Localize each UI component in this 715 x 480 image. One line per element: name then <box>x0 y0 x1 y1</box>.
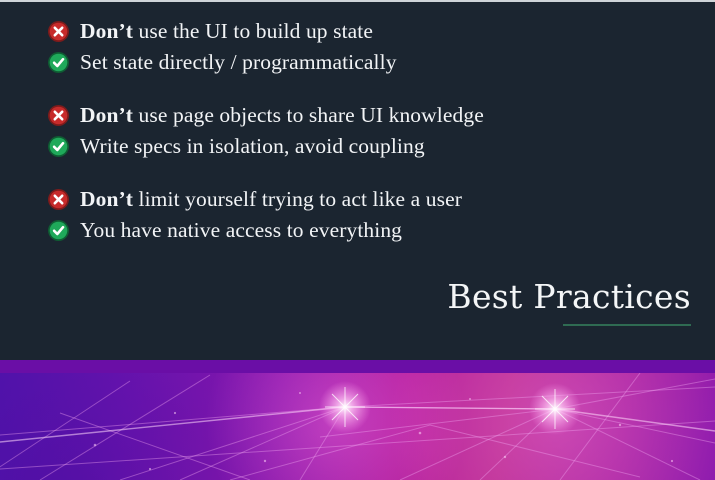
do-row-text: You have native access to everything <box>80 219 402 243</box>
dont-lead: Don’t <box>80 19 133 43</box>
dont-lead: Don’t <box>80 103 133 127</box>
dont-row: Don’t use page objects to share UI knowl… <box>48 100 688 131</box>
dont-rest: limit yourself trying to act like a user <box>133 187 462 211</box>
do-row: Set state directly / programmatically <box>48 47 688 78</box>
dont-lead: Don’t <box>80 187 133 211</box>
title-underline <box>563 324 691 326</box>
bullet-group: Don’t use page objects to share UI knowl… <box>48 100 688 162</box>
conference-banner: Assert(js) 2018 Brian Mann Cypress <box>0 360 715 480</box>
do-row-text: Write specs in isolation, avoid coupling <box>80 135 425 159</box>
slide-title-block: Best Practices <box>447 280 691 326</box>
x-circle-icon <box>48 189 69 210</box>
presentation-slide: Don’t use the UI to build up state Set s… <box>0 0 715 480</box>
check-circle-icon <box>48 52 69 73</box>
x-circle-icon <box>48 105 69 126</box>
banner-artwork <box>0 373 715 480</box>
dont-row: Don’t use the UI to build up state <box>48 16 688 47</box>
do-row: You have native access to everything <box>48 215 688 246</box>
dont-row-text: Don’t limit yourself trying to act like … <box>80 188 462 212</box>
do-row-text: Set state directly / programmatically <box>80 51 397 75</box>
dont-row-text: Don’t use the UI to build up state <box>80 20 373 44</box>
dont-row-text: Don’t use page objects to share UI knowl… <box>80 104 484 128</box>
slide-content-area: Don’t use the UI to build up state Set s… <box>0 2 715 360</box>
page-title: Best Practices <box>447 280 691 313</box>
check-circle-icon <box>48 136 69 157</box>
do-row: Write specs in isolation, avoid coupling <box>48 131 688 162</box>
banner-line-network <box>0 373 715 480</box>
dont-row: Don’t limit yourself trying to act like … <box>48 184 688 215</box>
dont-rest: use page objects to share UI knowledge <box>133 103 484 127</box>
bullet-group: Don’t limit yourself trying to act like … <box>48 184 688 246</box>
dont-rest: use the UI to build up state <box>133 19 373 43</box>
x-circle-icon <box>48 21 69 42</box>
bullet-list: Don’t use the UI to build up state Set s… <box>48 16 688 246</box>
bullet-group: Don’t use the UI to build up state Set s… <box>48 16 688 78</box>
check-circle-icon <box>48 220 69 241</box>
banner-top-band <box>0 360 715 373</box>
